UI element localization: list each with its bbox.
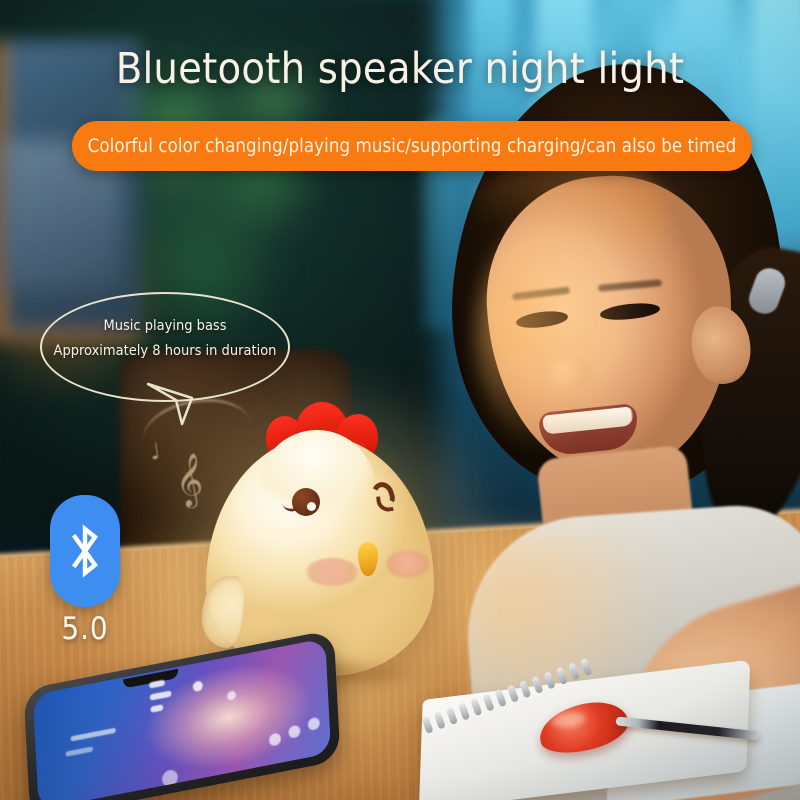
phone-ui-element [193,680,203,692]
phone-control-icon [288,724,300,738]
bluetooth-icon [65,520,105,582]
speech-bubble-tail [146,378,216,426]
bluetooth-badge: 5.0 [50,495,120,607]
phone-ui-element [227,690,236,701]
phone-ui-element [150,704,163,713]
speech-bubble: Music playing bass Approximately 8 hours… [40,292,290,402]
page-title: Bluetooth speaker night light [0,44,800,94]
chicken-cheek [306,558,358,586]
feature-banner: Colorful color changing/playing music/su… [72,121,752,171]
speech-bubble-text: Music playing bass Approximately 8 hours… [40,314,290,364]
speech-bubble-line-1: Music playing bass [40,314,290,339]
phone-ui-element [71,728,116,742]
speech-bubble-line-2: Approximately 8 hours in duration [40,339,290,364]
chicken-eye-left-icon [292,488,320,516]
feature-banner-label: Colorful color changing/playing music/su… [88,136,737,157]
phone-control-icon [308,717,320,731]
phone-ui-element [65,746,93,756]
bluetooth-version-label: 5.0 [34,611,136,647]
phone-ui-element [150,690,172,700]
product-marketing-image: 𝄞 ♩ ♫ ♪ [0,0,800,800]
chicken-cheek [386,550,430,578]
phone-control-icon [269,732,281,746]
bluetooth-pill [50,495,120,607]
